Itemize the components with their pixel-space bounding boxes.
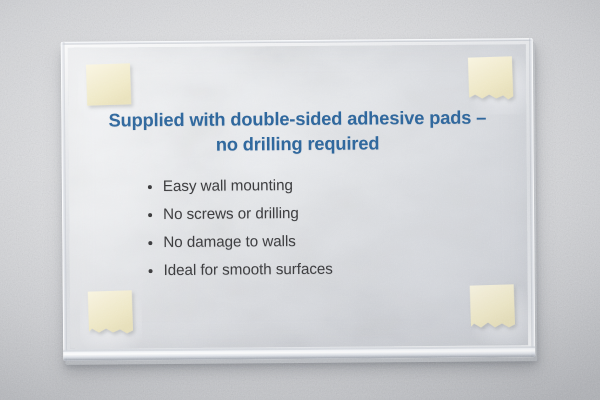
acrylic-sign-holder: Supplied with double-sided adhesive pads… [61,38,535,361]
adhesive-pad-bottom-left [88,290,133,333]
paper-insert: Supplied with double-sided adhesive pads… [68,44,528,349]
adhesive-pad-bottom-right [470,284,515,327]
adhesive-pad-top-left [86,63,131,105]
photo-scene: Supplied with double-sided adhesive pads… [0,0,600,400]
adhesive-pads-layer [68,44,528,349]
acrylic-panel: Supplied with double-sided adhesive pads… [61,38,535,361]
adhesive-pad-top-right [468,56,513,99]
